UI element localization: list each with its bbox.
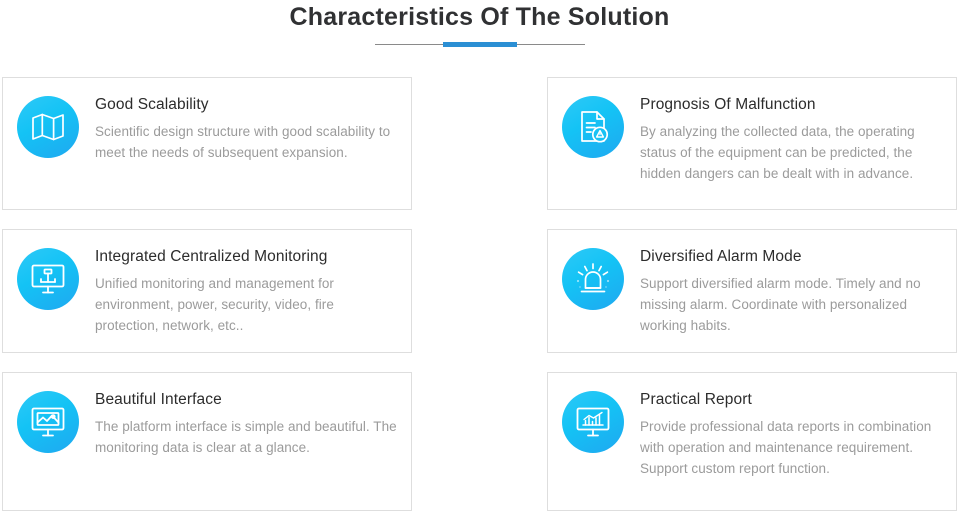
feature-card-good-scalability[interactable]: Good Scalability Scientific design struc… <box>2 77 412 210</box>
card-body: Integrated Centralized Monitoring Unifie… <box>95 246 397 336</box>
card-description: The platform interface is simple and bea… <box>95 416 397 458</box>
card-title: Diversified Alarm Mode <box>640 247 942 267</box>
feature-highlights-page: Characteristics Of The Solution Good Sca… <box>0 0 959 503</box>
card-description: Scientific design structure with good sc… <box>95 121 397 163</box>
card-title: Prognosis Of Malfunction <box>640 95 942 115</box>
alarm-siren-icon <box>562 248 624 310</box>
features-grid: Good Scalability Scientific design struc… <box>0 77 959 511</box>
document-warning-icon <box>562 96 624 158</box>
feature-card-diversified-alarm-mode[interactable]: Diversified Alarm Mode Support diversifi… <box>547 229 957 353</box>
icon-container <box>17 391 79 453</box>
card-description: By analyzing the collected data, the ope… <box>640 121 942 184</box>
folded-map-icon <box>17 96 79 158</box>
monitor-chart-icon <box>562 391 624 453</box>
title-divider <box>375 40 585 50</box>
icon-container <box>562 96 624 158</box>
card-description: Unified monitoring and management for en… <box>95 273 397 336</box>
icon-container <box>562 391 624 453</box>
feature-card-practical-report[interactable]: Practical Report Provide professional da… <box>547 372 957 511</box>
card-title: Practical Report <box>640 390 942 410</box>
card-title: Good Scalability <box>95 95 397 115</box>
feature-card-beautiful-interface[interactable]: Beautiful Interface The platform interfa… <box>2 372 412 511</box>
monitor-network-icon <box>17 248 79 310</box>
icon-container <box>562 248 624 310</box>
page-title: Characteristics Of The Solution <box>0 2 959 32</box>
icon-container <box>17 96 79 158</box>
divider-accent-segment <box>443 42 517 47</box>
feature-card-integrated-centralized-monitoring[interactable]: Integrated Centralized Monitoring Unifie… <box>2 229 412 353</box>
card-description: Support diversified alarm mode. Timely a… <box>640 273 942 336</box>
page-header: Characteristics Of The Solution <box>0 0 959 50</box>
card-body: Good Scalability Scientific design struc… <box>95 94 397 163</box>
card-title: Beautiful Interface <box>95 390 397 410</box>
card-body: Practical Report Provide professional da… <box>640 389 942 479</box>
card-body: Beautiful Interface The platform interfa… <box>95 389 397 458</box>
card-body: Diversified Alarm Mode Support diversifi… <box>640 246 942 336</box>
card-body: Prognosis Of Malfunction By analyzing th… <box>640 94 942 184</box>
card-title: Integrated Centralized Monitoring <box>95 247 397 267</box>
monitor-image-icon <box>17 391 79 453</box>
icon-container <box>17 248 79 310</box>
feature-card-prognosis-of-malfunction[interactable]: Prognosis Of Malfunction By analyzing th… <box>547 77 957 210</box>
card-description: Provide professional data reports in com… <box>640 416 942 479</box>
